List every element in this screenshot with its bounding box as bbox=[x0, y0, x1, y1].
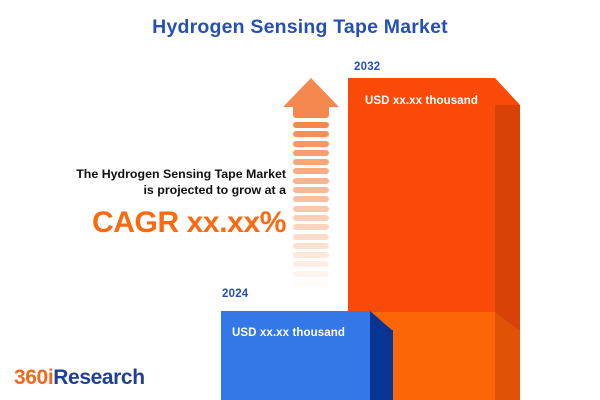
arrow-shaft-segment bbox=[293, 159, 329, 165]
arrow-shaft-segment bbox=[293, 271, 329, 277]
bar-2032-year-label: 2032 bbox=[354, 61, 380, 73]
arrow-shaft-segments bbox=[293, 122, 329, 293]
arrow-shaft-segment bbox=[293, 131, 329, 137]
cagr-value: CAGR xx.xx% bbox=[14, 206, 286, 240]
arrow-shaft-segment bbox=[293, 243, 329, 249]
growth-arrow-up-icon bbox=[283, 78, 339, 293]
arrow-shaft-segment bbox=[293, 150, 329, 156]
arrow-shaft-segment bbox=[293, 252, 329, 258]
arrow-shaft-segment bbox=[293, 261, 329, 267]
arrow-shaft-segment bbox=[293, 280, 329, 286]
growth-statement: The Hydrogen Sensing Tape Market is proj… bbox=[14, 166, 286, 240]
bar-2024-year-label: 2024 bbox=[222, 288, 248, 300]
arrow-shaft-segment bbox=[293, 141, 329, 147]
bar-2024-side-face bbox=[370, 330, 393, 400]
brand-logo-research: Research bbox=[53, 366, 144, 389]
infographic-canvas: Hydrogen Sensing Tape Market The Hydroge… bbox=[0, 0, 600, 400]
arrow-neck-shape bbox=[293, 106, 329, 118]
bar-2032-top-bevel bbox=[495, 78, 520, 105]
arrow-shaft-segment bbox=[293, 168, 329, 174]
arrow-head-shape bbox=[283, 78, 339, 107]
page-title: Hydrogen Sensing Tape Market bbox=[0, 16, 600, 39]
growth-statement-line-1: The Hydrogen Sensing Tape Market bbox=[14, 166, 286, 182]
arrow-shaft-segment bbox=[293, 234, 329, 240]
bar-2032-value-label: USD xx.xx thousand bbox=[365, 95, 478, 107]
arrow-shaft-segment bbox=[293, 122, 329, 128]
arrow-shaft-segment bbox=[293, 196, 329, 202]
arrow-shaft-segment bbox=[293, 289, 329, 295]
arrow-shaft-segment bbox=[293, 224, 329, 230]
arrow-shaft-segment bbox=[293, 187, 329, 193]
bar-2032-side-face-lower bbox=[495, 330, 520, 400]
arrow-shaft-segment bbox=[293, 215, 329, 221]
growth-statement-line-2: is projected to grow at a bbox=[14, 182, 286, 198]
brand-logo-360i: 360i bbox=[14, 366, 53, 389]
brand-logo: 360iResearch bbox=[14, 366, 145, 390]
bar-2024-value-label: USD xx.xx thousand bbox=[232, 327, 345, 339]
bar-2024-front-face bbox=[221, 311, 370, 400]
arrow-shaft-segment bbox=[293, 206, 329, 212]
arrow-shaft-segment bbox=[293, 178, 329, 184]
